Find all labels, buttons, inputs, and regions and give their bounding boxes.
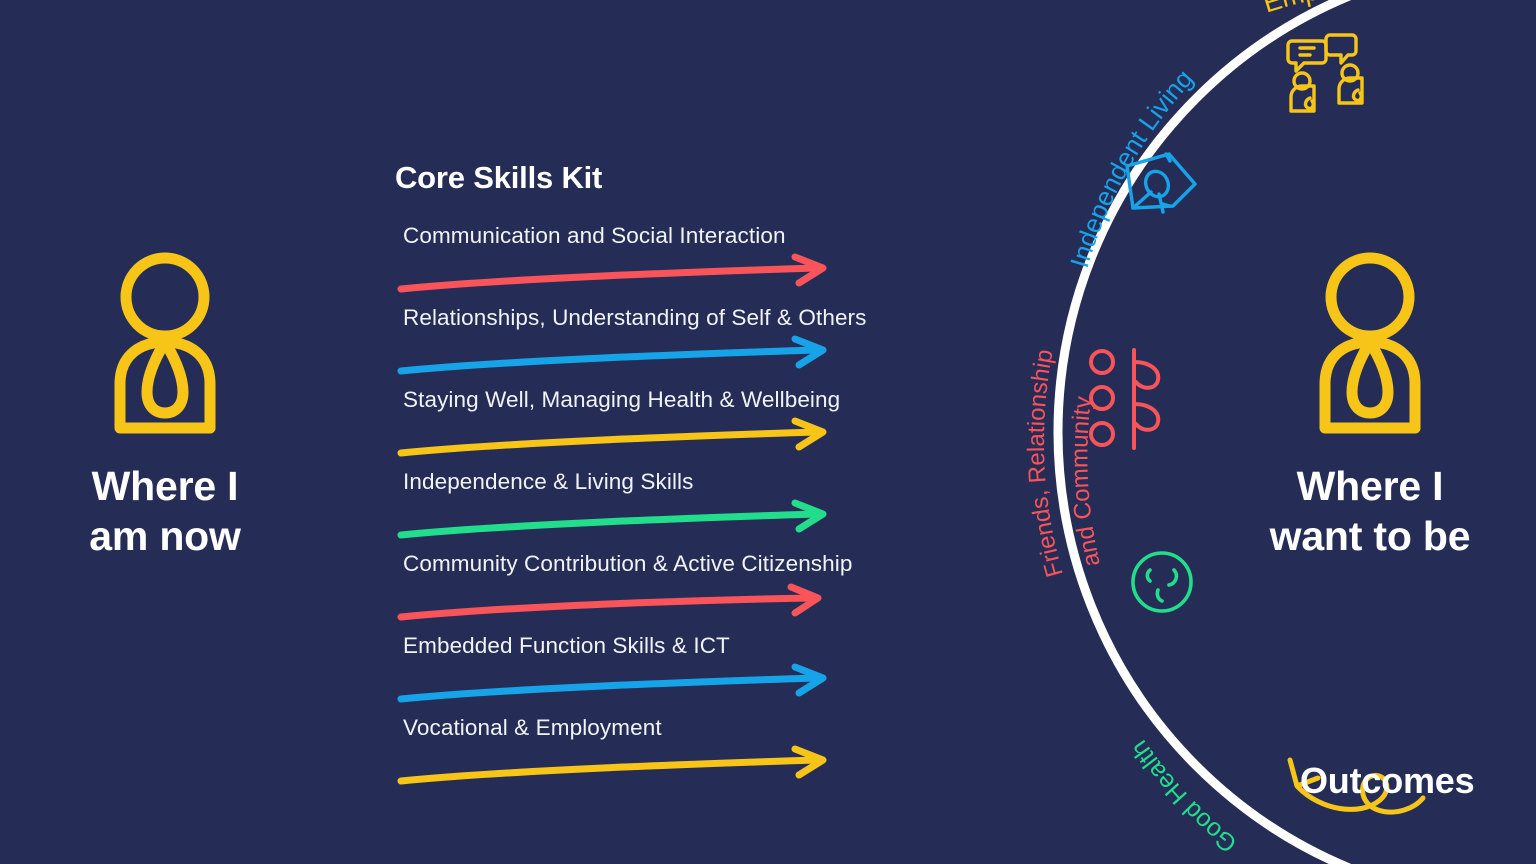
where-i-am-now-panel: Where I am now (0, 250, 330, 561)
caption-line-2: am now (0, 511, 330, 561)
person-icon (1295, 250, 1445, 435)
progress-arrow-icon (395, 420, 840, 464)
core-skills-kit-section: Core Skills Kit Communication and Social… (395, 160, 940, 798)
skill-row[interactable]: Relationships, Understanding of Self & O… (395, 306, 940, 388)
caption-line-1: Where I (0, 461, 330, 511)
skill-row[interactable]: Vocational & Employment (395, 716, 940, 798)
skill-label: Staying Well, Managing Health & Wellbein… (403, 388, 840, 413)
person-icon (90, 250, 240, 435)
segment-label-friends-line2: and Community (1066, 395, 1106, 569)
skill-row[interactable]: Staying Well, Managing Health & Wellbein… (395, 388, 940, 470)
page-title: Core Skills Kit (395, 160, 940, 196)
house-key-icon (1127, 154, 1195, 212)
outcomes-label: Outcomes (1300, 760, 1474, 802)
skill-label: Community Contribution & Active Citizens… (403, 552, 853, 577)
community-network-icon (1091, 350, 1158, 448)
slide-canvas: Where I am now Core Skills Kit Communica… (0, 0, 1536, 864)
skill-row[interactable]: Embedded Function Skills & ICT (395, 634, 940, 716)
caption-line-2: want to be (1205, 511, 1535, 561)
progress-arrow-icon (395, 502, 840, 546)
where-i-want-to-be-caption: Where I want to be (1205, 461, 1535, 561)
progress-arrow-icon (395, 256, 840, 300)
progress-arrow-icon (395, 666, 840, 710)
skill-row[interactable]: Communication and Social Interaction (395, 224, 940, 306)
caption-line-1: Where I (1205, 461, 1535, 511)
skill-label: Vocational & Employment (403, 716, 662, 741)
skill-label: Embedded Function Skills & ICT (403, 634, 730, 659)
people-speech-bubble-icon (1288, 35, 1362, 111)
smiley-face-icon (1133, 553, 1191, 611)
skill-label: Independence & Living Skills (403, 470, 694, 495)
skill-label: Communication and Social Interaction (403, 224, 786, 249)
segment-label-employment: Employment (1260, 0, 1415, 18)
segment-label-independent-living: Independent Living (1064, 63, 1199, 271)
where-i-am-now-caption: Where I am now (0, 461, 330, 561)
progress-arrow-icon (395, 338, 840, 382)
progress-arrow-icon (395, 584, 840, 628)
skill-label: Relationships, Understanding of Self & O… (403, 306, 867, 331)
skill-row[interactable]: Independence & Living Skills (395, 470, 940, 552)
progress-arrow-icon (395, 748, 840, 792)
segment-label-good-health: Good Health (1125, 735, 1242, 858)
where-i-want-to-be-panel: Where I want to be (1205, 250, 1535, 561)
segment-label-friends-line1: Friends, Relationship (1023, 347, 1069, 580)
skill-row[interactable]: Community Contribution & Active Citizens… (395, 552, 940, 634)
